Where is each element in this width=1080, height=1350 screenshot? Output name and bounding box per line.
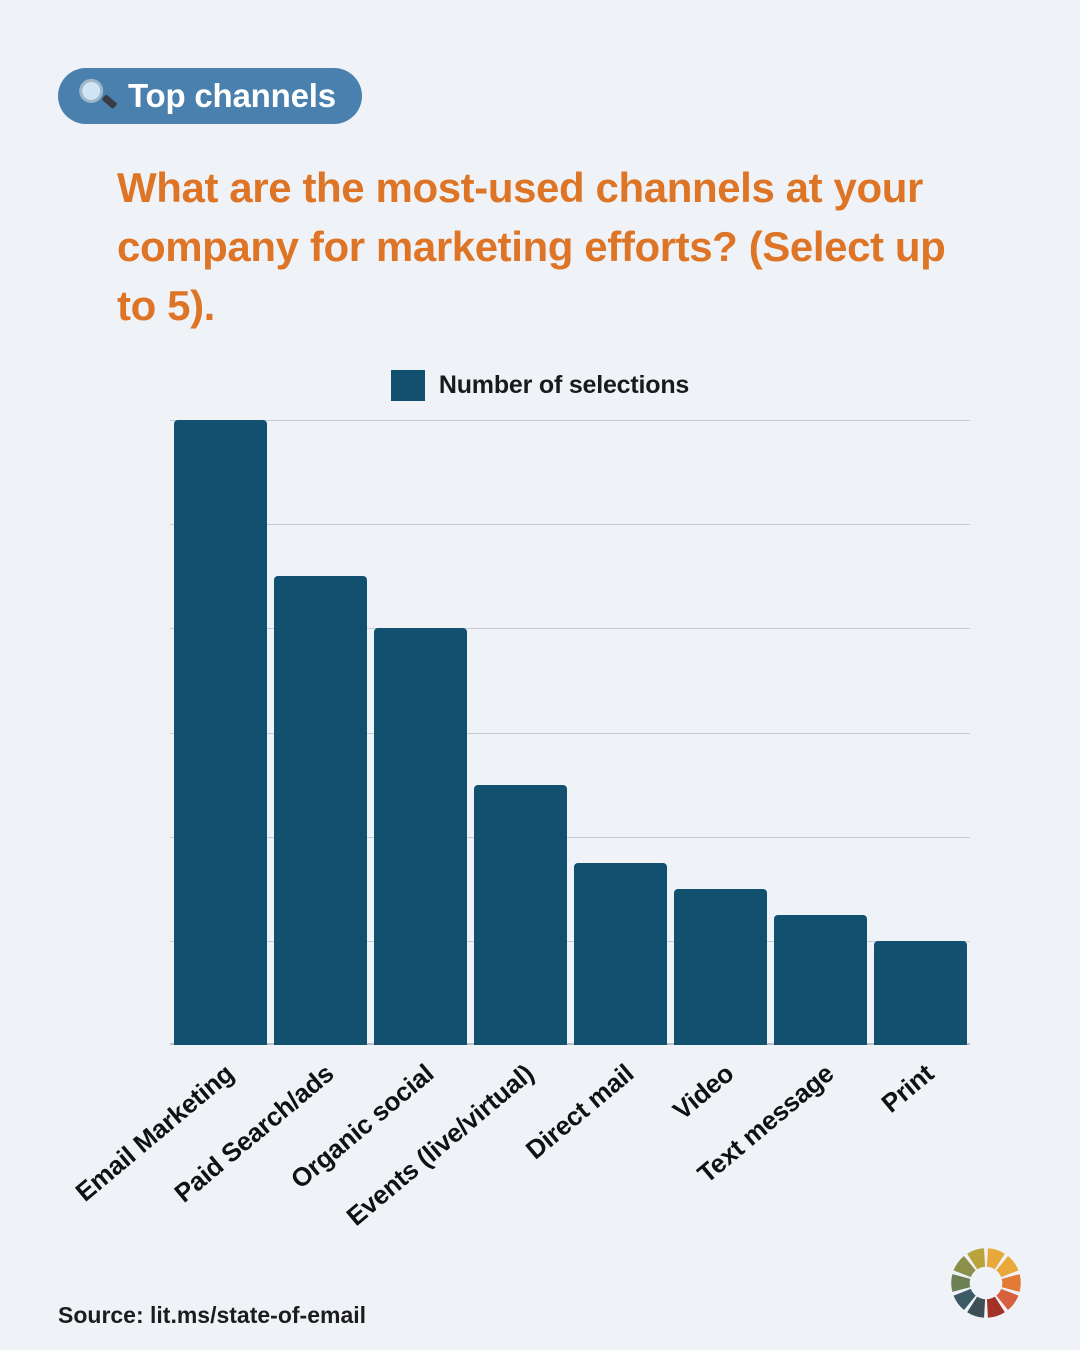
x-tick-label: Print: [875, 1058, 940, 1119]
bar-slot: [470, 420, 570, 1045]
bar[interactable]: [574, 863, 667, 1045]
bar[interactable]: [874, 941, 967, 1045]
bar[interactable]: [474, 785, 567, 1045]
x-label-slot: Direct mail: [570, 1050, 670, 1280]
bar-slot: [770, 420, 870, 1045]
logo-segment: [1002, 1274, 1021, 1292]
source-caption: Source: lit.ms/state-of-email: [58, 1302, 366, 1329]
logo-segment: [951, 1274, 970, 1292]
plot-area: [170, 420, 970, 1045]
bar[interactable]: [274, 576, 367, 1045]
x-axis-tick-labels: Email MarketingPaid Search/adsOrganic so…: [170, 1050, 970, 1280]
bar[interactable]: [374, 628, 467, 1045]
x-label-slot: Events (live/virtual): [470, 1050, 570, 1280]
bar-slot: [570, 420, 670, 1045]
x-tick-label: Video: [667, 1058, 740, 1126]
x-label-slot: Text message: [770, 1050, 870, 1280]
bar-slot: [870, 420, 970, 1045]
bar-slot: [170, 420, 270, 1045]
bar[interactable]: [174, 420, 267, 1045]
bar-slot: [670, 420, 770, 1045]
bar[interactable]: [774, 915, 867, 1045]
bar-slot: [270, 420, 370, 1045]
bar[interactable]: [674, 889, 767, 1045]
bar-slot: [370, 420, 470, 1045]
color-wheel-logo: [949, 1246, 1023, 1320]
bar-series: [170, 420, 970, 1045]
bar-chart: 0100200300400500600 Email MarketingPaid …: [0, 0, 1080, 1350]
